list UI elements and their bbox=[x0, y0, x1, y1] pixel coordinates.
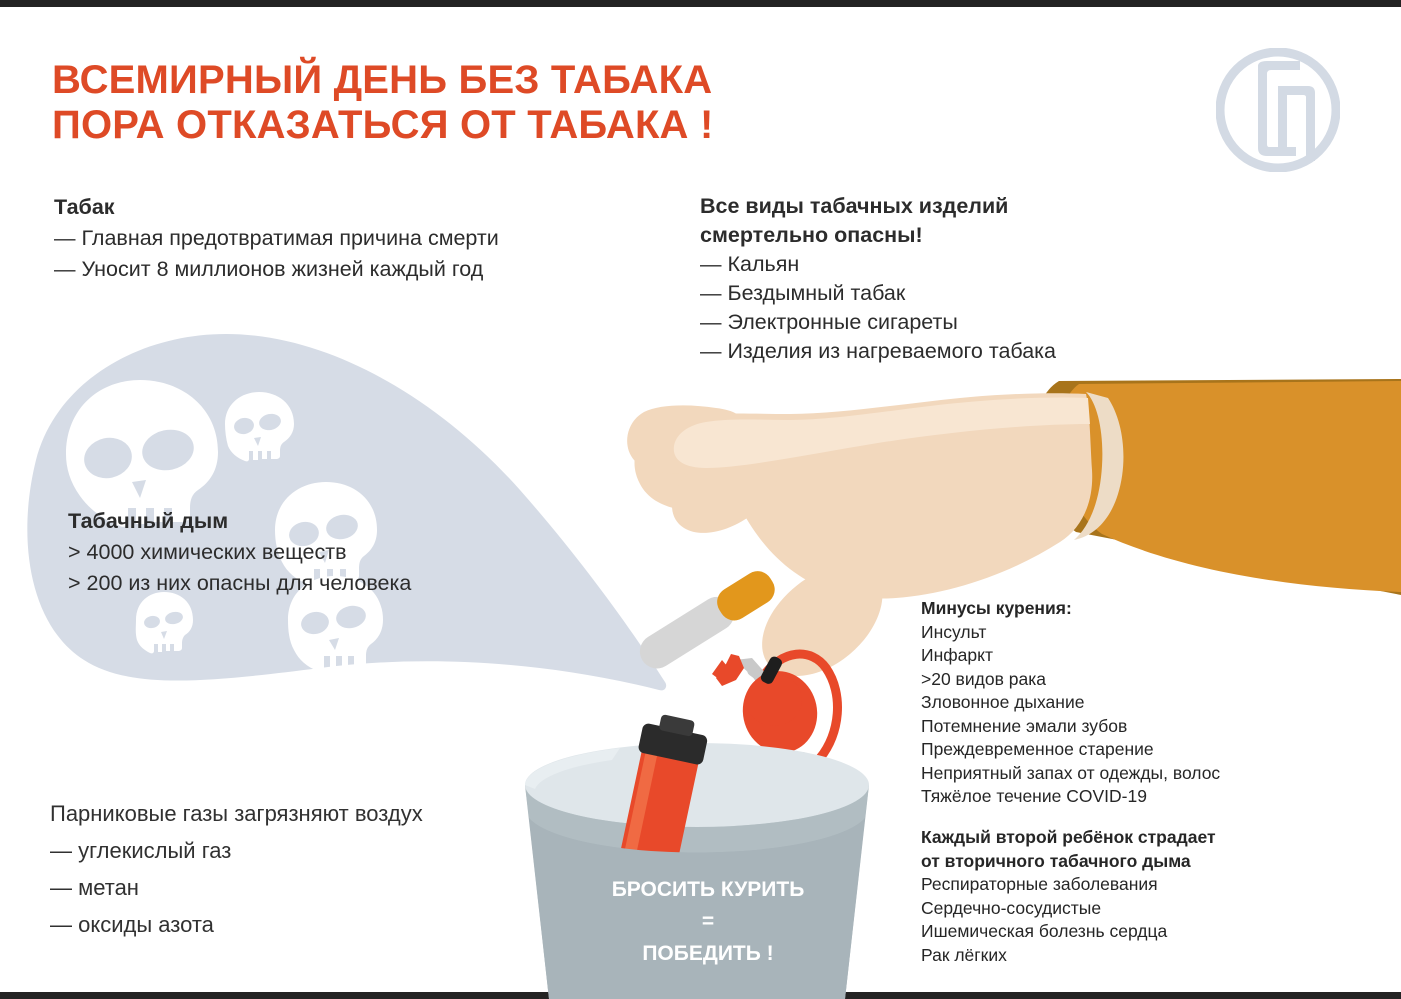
greenhouse-gases-item-1: — углекислый газ bbox=[50, 832, 423, 869]
tobacco-facts-item-1: — Главная предотвратимая причина смерти bbox=[54, 223, 499, 254]
quit-smoking-slogan: БРОСИТЬ КУРИТЬ = ПОБЕДИТЬ ! bbox=[563, 874, 853, 970]
smoking-downsides-item-3: >20 видов рака bbox=[921, 668, 1220, 692]
tobacco-facts-heading: Табак bbox=[54, 192, 499, 223]
secondhand-smoke-item-3: Ишемическая болезнь сердца bbox=[921, 920, 1216, 944]
tobacco-smoke-heading: Табачный дым bbox=[68, 506, 411, 537]
smoking-downsides-heading: Минусы курения: bbox=[921, 597, 1220, 621]
tobacco-smoke-item-1: > 4000 химических веществ bbox=[68, 537, 411, 568]
secondhand-smoke-item-2: Сердечно-сосудистые bbox=[921, 897, 1216, 921]
tobacco-smoke-item-2: > 200 из них опасны для человека bbox=[68, 568, 411, 599]
tobacco-products-heading-line-2: смертельно опасны! bbox=[700, 221, 1056, 250]
secondhand-smoke-item-1: Респираторные заболевания bbox=[921, 873, 1216, 897]
page-title: ВСЕМИРНЫЙ ДЕНЬ БЕЗ ТАБАКА ПОРА ОТКАЗАТЬС… bbox=[52, 58, 952, 148]
orange-sleeve-illustration bbox=[1035, 379, 1401, 595]
tobacco-products-heading-line-1: Все виды табачных изделий bbox=[700, 192, 1056, 221]
smoking-downsides-item-2: Инфаркт bbox=[921, 644, 1220, 668]
organization-logo-icon bbox=[1216, 48, 1340, 172]
smoking-downsides-item-6: Преждевременное старение bbox=[921, 738, 1220, 762]
tobacco-products-item-2: — Бездымный табак bbox=[700, 279, 1056, 308]
quit-smoking-slogan-line-1: БРОСИТЬ КУРИТЬ bbox=[563, 874, 853, 906]
hookah-icon bbox=[712, 654, 837, 800]
top-edge-bar bbox=[0, 0, 1401, 7]
tobacco-facts-item-2: — Уносит 8 миллионов жизней каждый год bbox=[54, 254, 499, 285]
tobacco-products-block: Все виды табачных изделий смертельно опа… bbox=[700, 192, 1056, 366]
tobacco-smoke-block: Табачный дым > 4000 химических веществ >… bbox=[68, 506, 411, 599]
bottom-edge-bar bbox=[0, 992, 1401, 999]
secondhand-smoke-block: Каждый второй ребёнок страдает от вторич… bbox=[921, 826, 1216, 967]
page-title-line-2: ПОРА ОТКАЗАТЬСЯ ОТ ТАБАКА ! bbox=[52, 103, 952, 148]
smoking-downsides-item-1: Инсульт bbox=[921, 621, 1220, 645]
secondhand-smoke-heading-line-1: Каждый второй ребёнок страдает bbox=[921, 826, 1216, 850]
quit-smoking-slogan-line-2: = bbox=[563, 906, 853, 938]
secondhand-smoke-item-4: Рак лёгких bbox=[921, 944, 1216, 968]
tobacco-products-item-3: — Электронные сигареты bbox=[700, 308, 1056, 337]
greenhouse-gases-item-3: — оксиды азота bbox=[50, 906, 423, 943]
greenhouse-gases-block: Парниковые газы загрязняют воздух — угле… bbox=[50, 795, 423, 943]
smoking-downsides-item-8: Тяжёлое течение COVID-19 bbox=[921, 785, 1220, 809]
tobacco-facts-block: Табак — Главная предотвратимая причина с… bbox=[54, 192, 499, 285]
smoking-downsides-item-4: Зловонное дыхание bbox=[921, 691, 1220, 715]
smoking-downsides-block: Минусы курения: Инсульт Инфаркт >20 видо… bbox=[921, 597, 1220, 809]
quit-smoking-slogan-line-3: ПОБЕДИТЬ ! bbox=[563, 938, 853, 970]
secondhand-smoke-heading-line-2: от вторичного табачного дыма bbox=[921, 850, 1216, 874]
smoking-downsides-item-7: Неприятный запах от одежды, волос bbox=[921, 762, 1220, 786]
smoking-downsides-item-5: Потемнение эмали зубов bbox=[921, 715, 1220, 739]
page-title-line-1: ВСЕМИРНЫЙ ДЕНЬ БЕЗ ТАБАКА bbox=[52, 58, 952, 103]
greenhouse-gases-item-2: — метан bbox=[50, 869, 423, 906]
tobacco-products-item-1: — Кальян bbox=[700, 250, 1056, 279]
greenhouse-gases-heading: Парниковые газы загрязняют воздух bbox=[50, 795, 423, 832]
tobacco-products-item-4: — Изделия из нагреваемого табака bbox=[700, 337, 1056, 366]
poster-canvas: ВСЕМИРНЫЙ ДЕНЬ БЕЗ ТАБАКА ПОРА ОТКАЗАТЬС… bbox=[0, 0, 1401, 999]
